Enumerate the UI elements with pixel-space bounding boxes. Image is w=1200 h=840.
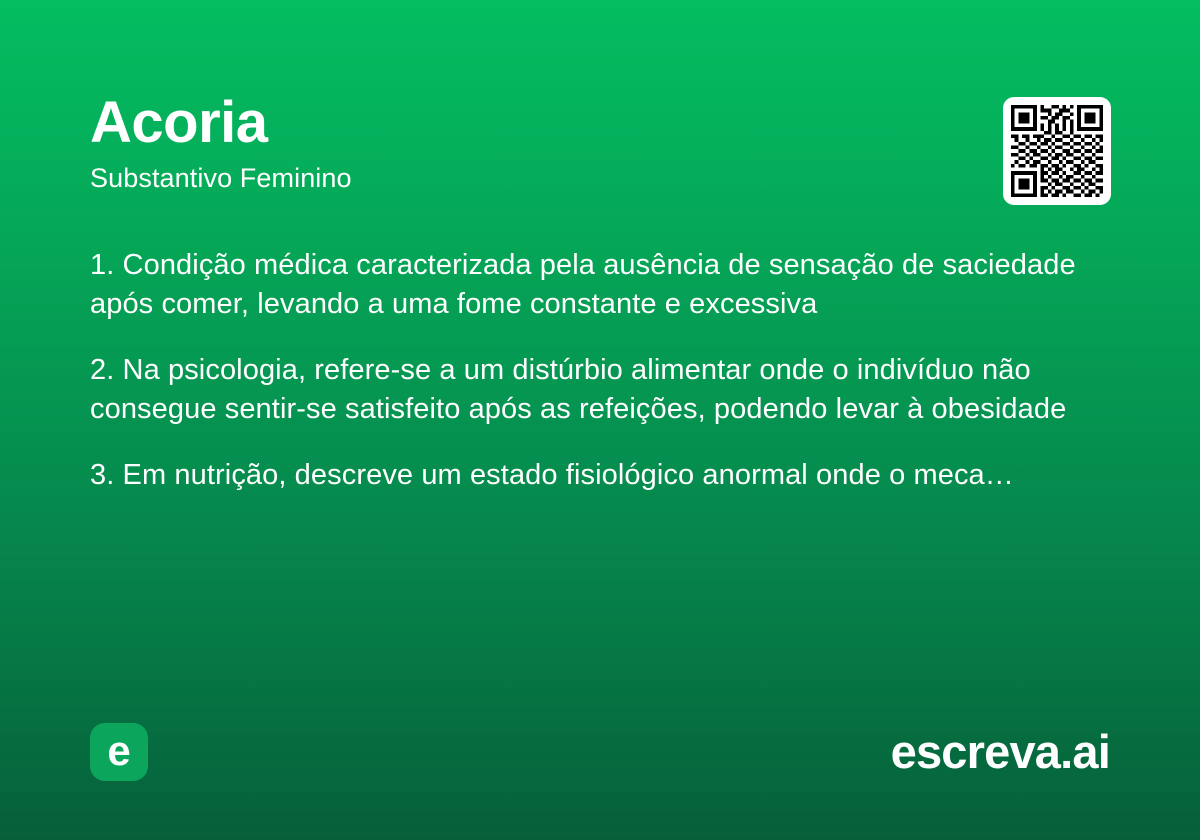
brand-wordmark: escreva.ai (891, 726, 1110, 778)
qr-code-panel[interactable] (1003, 97, 1111, 205)
definition-item: 3. Em nutrição, descreve um estado fisio… (90, 456, 1095, 495)
qr-code-icon (1011, 105, 1103, 197)
dictionary-card: Acoria Substantivo Feminino 1. Condição … (0, 0, 1200, 840)
card-header: Acoria Substantivo Feminino (90, 92, 970, 194)
definition-item: 1. Condição médica caracterizada pela au… (90, 246, 1095, 324)
card-footer: e escreva.ai (90, 722, 1110, 782)
page-title: Acoria (90, 92, 970, 154)
definition-list: 1. Condição médica caracterizada pela au… (90, 246, 1095, 495)
brand-logo-icon: e (90, 723, 148, 781)
definition-item: 2. Na psicologia, refere-se a um distúrb… (90, 351, 1095, 429)
word-class-label: Substantivo Feminino (90, 162, 970, 194)
